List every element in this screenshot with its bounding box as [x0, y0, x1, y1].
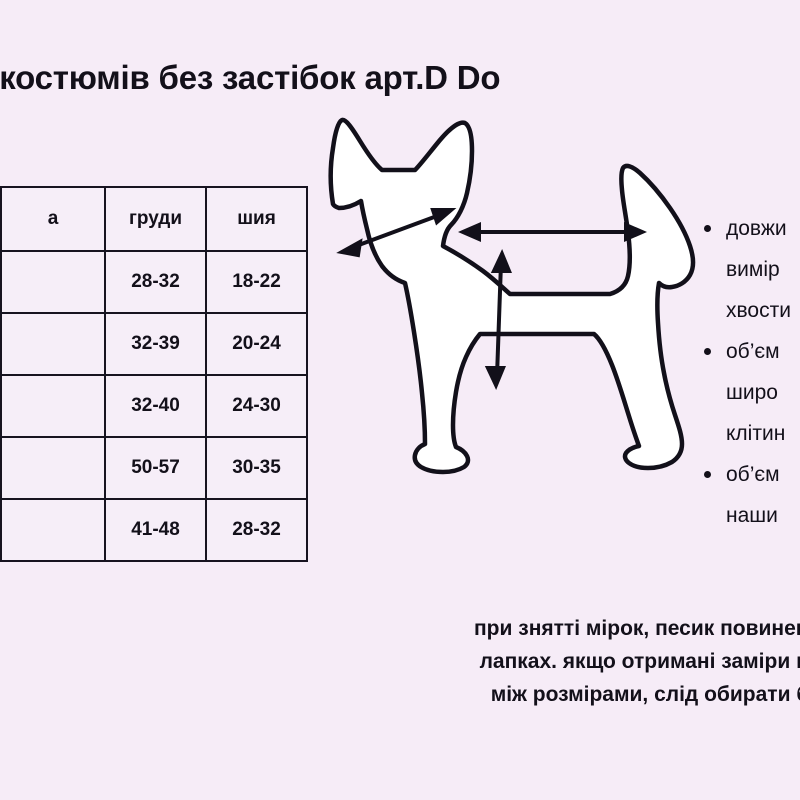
cell-chest: 32-39 [105, 313, 206, 375]
table-row: 32-39 20-24 [0, 313, 307, 375]
size-table-container: а груди шия 28-32 18-22 32-39 20-24 [0, 186, 306, 562]
bullet-icon [704, 348, 711, 355]
footnote-line: між розмірами, слід обирати б [330, 678, 800, 711]
table-row: 28-32 18-22 [0, 251, 307, 313]
column-header-chest: груди [105, 187, 206, 251]
table-header-row: а груди шия [0, 187, 307, 251]
note-line: широ [726, 372, 800, 413]
table-row: 41-48 28-32 [0, 499, 307, 561]
column-header-neck: шия [206, 187, 307, 251]
cell-length [1, 375, 105, 437]
note-line: вимір [726, 249, 800, 290]
footnote-line: при знятті мірок, песик повинен с [330, 612, 800, 645]
table-row: 32-40 24-30 [0, 375, 307, 437]
cell-neck: 28-32 [206, 499, 307, 561]
size-table: а груди шия 28-32 18-22 32-39 20-24 [0, 186, 308, 562]
cell-neck: 20-24 [206, 313, 307, 375]
cell-chest: 50-57 [105, 437, 206, 499]
page-title: егких костюмів без застібок арт.D Do [0, 58, 800, 98]
list-item: об’єм наши [700, 454, 800, 536]
column-header-length: а [1, 187, 105, 251]
note-line: об’єм [726, 454, 800, 495]
back-length-arrow [463, 225, 642, 239]
list-item: довжи вимір хвости [700, 208, 800, 331]
cell-neck: 24-30 [206, 375, 307, 437]
bullet-icon [704, 471, 711, 478]
cell-neck: 18-22 [206, 251, 307, 313]
cell-length [1, 313, 105, 375]
table-row: 50-57 30-35 [0, 437, 307, 499]
cell-neck: 30-35 [206, 437, 307, 499]
note-line: клітин [726, 413, 800, 454]
note-line: хвости [726, 290, 800, 331]
measurement-notes-list: довжи вимір хвости об’єм широ клітин об’… [700, 208, 800, 536]
dog-measurement-diagram [320, 108, 710, 518]
footnote-line: лапках. якщо отримані заміри пе [330, 645, 800, 678]
bullet-icon [704, 225, 711, 232]
cell-length [1, 499, 105, 561]
cell-chest: 41-48 [105, 499, 206, 561]
note-line: довжи [726, 208, 800, 249]
list-item: об’єм широ клітин [700, 331, 800, 454]
measurement-instructions: при знятті мірок, песик повинен с лапках… [330, 612, 800, 711]
note-line: наши [726, 495, 800, 536]
note-line: об’єм [726, 331, 800, 372]
cell-chest: 28-32 [105, 251, 206, 313]
size-chart-page: егких костюмів без застібок арт.D Do а г… [0, 0, 800, 800]
cell-length [1, 251, 105, 313]
dog-outline-icon [331, 120, 693, 472]
cell-chest: 32-40 [105, 375, 206, 437]
cell-length [1, 437, 105, 499]
